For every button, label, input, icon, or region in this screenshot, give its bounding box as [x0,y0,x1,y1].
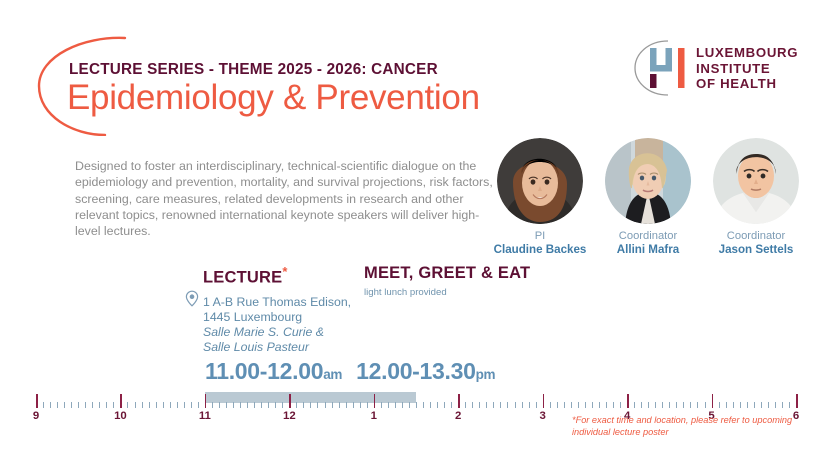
page-title: Epidemiology & Prevention [67,78,480,118]
ruler-minor-tick [226,402,227,408]
ruler-minor-tick [451,402,452,408]
timeline-ruler: 9101112123456 [36,392,796,408]
ruler-hour-label: 1 [371,410,377,422]
ruler-minor-tick [184,402,185,408]
ruler-minor-tick [317,402,318,408]
portrait-jason-settels-avatar [713,138,799,224]
ruler-minor-tick [402,402,403,408]
ruler-minor-tick [310,402,311,408]
ruler-minor-tick [761,402,762,408]
ruler-minor-tick [599,402,600,408]
meet-heading: MEET, GREET & EAT [364,264,530,283]
address-line-2: 1445 Luxembourg [203,310,351,325]
ruler-minor-tick [423,402,424,408]
ruler-hour-label: 12 [283,410,296,422]
ruler-hour-label: 11 [199,410,211,422]
ruler-minor-tick [92,402,93,408]
ruler-minor-tick [149,402,150,408]
ruler-minor-tick [437,402,438,408]
time-row: 11.00-12.00am12.00-13.30pm [205,358,495,385]
lecture-address: 1 A-B Rue Thomas Edison, 1445 Luxembourg… [203,295,351,356]
ruler-minor-tick [557,402,558,408]
ruler-minor-tick [254,402,255,408]
ruler-minor-tick [142,402,143,408]
ruler-hour-tick [374,394,376,408]
ruler-minor-tick [571,402,572,408]
meet-time: 12.00-13.30pm [356,358,495,385]
ruler-minor-tick [733,402,734,408]
ruler-hour-label: 9 [33,410,39,422]
ruler-minor-tick [472,402,473,408]
ruler-minor-tick [346,402,347,408]
ruler-minor-tick [219,402,220,408]
ruler-minor-tick [416,402,417,408]
ruler-minor-tick [515,402,516,408]
ruler-minor-tick [683,402,684,408]
ruler-minor-tick [507,402,508,408]
portrait-claudine-backes-avatar [497,138,583,224]
ruler-minor-tick [662,402,663,408]
footnote: *For exact time and location, please ref… [572,415,822,439]
lecture-time-value: 11.00-12.00 [205,358,323,384]
ruler-minor-tick [85,402,86,408]
ruler-minor-tick [325,402,326,408]
ruler-minor-tick [163,402,164,408]
meet-greet-eat-block: MEET, GREET & EAT light lunch provided [364,264,530,298]
ruler-minor-tick [634,402,635,408]
ruler-minor-tick [754,402,755,408]
ruler-minor-tick [78,402,79,408]
ruler-minor-tick [585,402,586,408]
ruler-hour-tick [627,394,629,408]
intro-paragraph: Designed to foster an interdisciplinary,… [75,158,495,239]
ruler-minor-tick [113,402,114,408]
ruler-minor-tick [768,402,769,408]
ruler-minor-tick [493,402,494,408]
ruler-minor-tick [500,402,501,408]
ruler-minor-tick [296,402,297,408]
ruler-minor-tick [536,402,537,408]
lih-logo-line3: OF HEALTH [696,76,798,92]
series-kicker: LECTURE SERIES - THEME 2025 - 2026: CANC… [69,61,438,79]
ruler-minor-tick [127,402,128,408]
lecture-heading: LECTURE* [203,264,351,288]
ruler-minor-tick [57,402,58,408]
person-card: PI Claudine Backes [492,138,588,257]
poster-root: LECTURE SERIES - THEME 2025 - 2026: CANC… [0,0,826,463]
lecture-time-suffix: am [323,367,342,382]
ruler-minor-tick [388,402,389,408]
ruler-hour-tick [543,394,545,408]
address-line-1: 1 A-B Rue Thomas Edison, [203,295,351,310]
ruler-minor-tick [261,402,262,408]
portrait-allini-mafra-avatar [605,138,691,224]
ruler-minor-tick [705,402,706,408]
ruler-minor-tick [106,402,107,408]
ruler-minor-tick [282,402,283,408]
ruler-minor-tick [690,402,691,408]
lecture-time: 11.00-12.00am [205,358,342,385]
ruler-minor-tick [198,402,199,408]
ruler-minor-tick [655,402,656,408]
ruler-minor-tick [64,402,65,408]
map-pin-icon [185,290,199,307]
ruler-minor-tick [303,402,304,408]
lih-logo-line2: INSTITUTE [696,61,798,77]
ruler-minor-tick [409,402,410,408]
ruler-hour-label: 2 [455,410,461,422]
ruler-minor-tick [367,402,368,408]
person-role: Coordinator [600,230,696,243]
ruler-minor-tick [360,402,361,408]
ruler-minor-tick [395,402,396,408]
lih-logo-line1: LUXEMBOURG [696,45,798,61]
person-card: Coordinator Jason Settels [708,138,804,257]
ruler-minor-tick [268,402,269,408]
ruler-minor-tick [240,402,241,408]
ruler-minor-tick [613,402,614,408]
person-role: Coordinator [708,230,804,243]
ruler-hour-tick [120,394,122,408]
ruler-minor-tick [247,402,248,408]
ruler-hour-tick [458,394,460,408]
lih-logo-text: LUXEMBOURG INSTITUTE OF HEALTH [696,45,798,92]
ruler-minor-tick [233,402,234,408]
lecture-asterisk: * [282,264,287,279]
meet-note: light lunch provided [364,287,530,298]
ruler-minor-tick [381,402,382,408]
ruler-hour-tick [205,394,207,408]
ruler-hour-tick [712,394,714,408]
lih-monogram-icon [632,38,698,98]
ruler-minor-tick [719,402,720,408]
ruler-minor-tick [479,402,480,408]
ruler-minor-tick [353,402,354,408]
meet-time-value: 12.00-13.30 [356,358,475,384]
ruler-minor-tick [275,402,276,408]
ruler-hour-tick [289,394,291,408]
ruler-minor-tick [212,402,213,408]
ruler-minor-tick [775,402,776,408]
ruler-minor-tick [177,402,178,408]
ruler-minor-tick [620,402,621,408]
room-line-2: Salle Louis Pasteur [203,340,351,355]
person-name: Jason Settels [708,243,804,257]
lih-logo: LUXEMBOURG INSTITUTE OF HEALTH [632,38,802,100]
ruler-minor-tick [676,402,677,408]
room-line-1: Salle Marie S. Curie & [203,325,351,340]
ruler-minor-tick [43,402,44,408]
person-card: Coordinator Allini Mafra [600,138,696,257]
person-name: Allini Mafra [600,243,696,257]
ruler-minor-tick [486,402,487,408]
ruler-minor-tick [747,402,748,408]
ruler-minor-tick [99,402,100,408]
lecture-block: LECTURE* 1 A-B Rue Thomas Edison, 1445 L… [203,264,351,355]
ruler-minor-tick [170,402,171,408]
ruler-minor-tick [135,402,136,408]
ruler-hour-tick [796,394,798,408]
ruler-minor-tick [332,402,333,408]
ruler-minor-tick [578,402,579,408]
ruler-minor-tick [782,402,783,408]
ruler-minor-tick [564,402,565,408]
ruler-minor-tick [641,402,642,408]
lecture-heading-label: LECTURE [203,269,282,287]
ruler-minor-tick [444,402,445,408]
ruler-minor-tick [740,402,741,408]
ruler-minor-tick [606,402,607,408]
ruler-minor-tick [648,402,649,408]
meet-time-suffix: pm [476,367,496,382]
ruler-minor-tick [156,402,157,408]
ruler-minor-tick [71,402,72,408]
ruler-minor-tick [697,402,698,408]
ruler-minor-tick [669,402,670,408]
ruler-hour-label: 10 [114,410,127,422]
ruler-minor-tick [726,402,727,408]
ruler-minor-tick [529,402,530,408]
ruler-hour-tick [36,394,38,408]
ruler-minor-tick [522,402,523,408]
ruler-hour-label: 3 [539,410,545,422]
ruler-minor-tick [465,402,466,408]
ruler-minor-tick [592,402,593,408]
ruler-minor-tick [550,402,551,408]
ruler-minor-tick [339,402,340,408]
people-list: PI Claudine Backes [480,138,820,258]
ruler-minor-tick [430,402,431,408]
ruler-minor-tick [789,402,790,408]
ruler-minor-tick [191,402,192,408]
ruler-minor-tick [50,402,51,408]
person-role: PI [492,230,588,243]
person-name: Claudine Backes [492,243,588,257]
